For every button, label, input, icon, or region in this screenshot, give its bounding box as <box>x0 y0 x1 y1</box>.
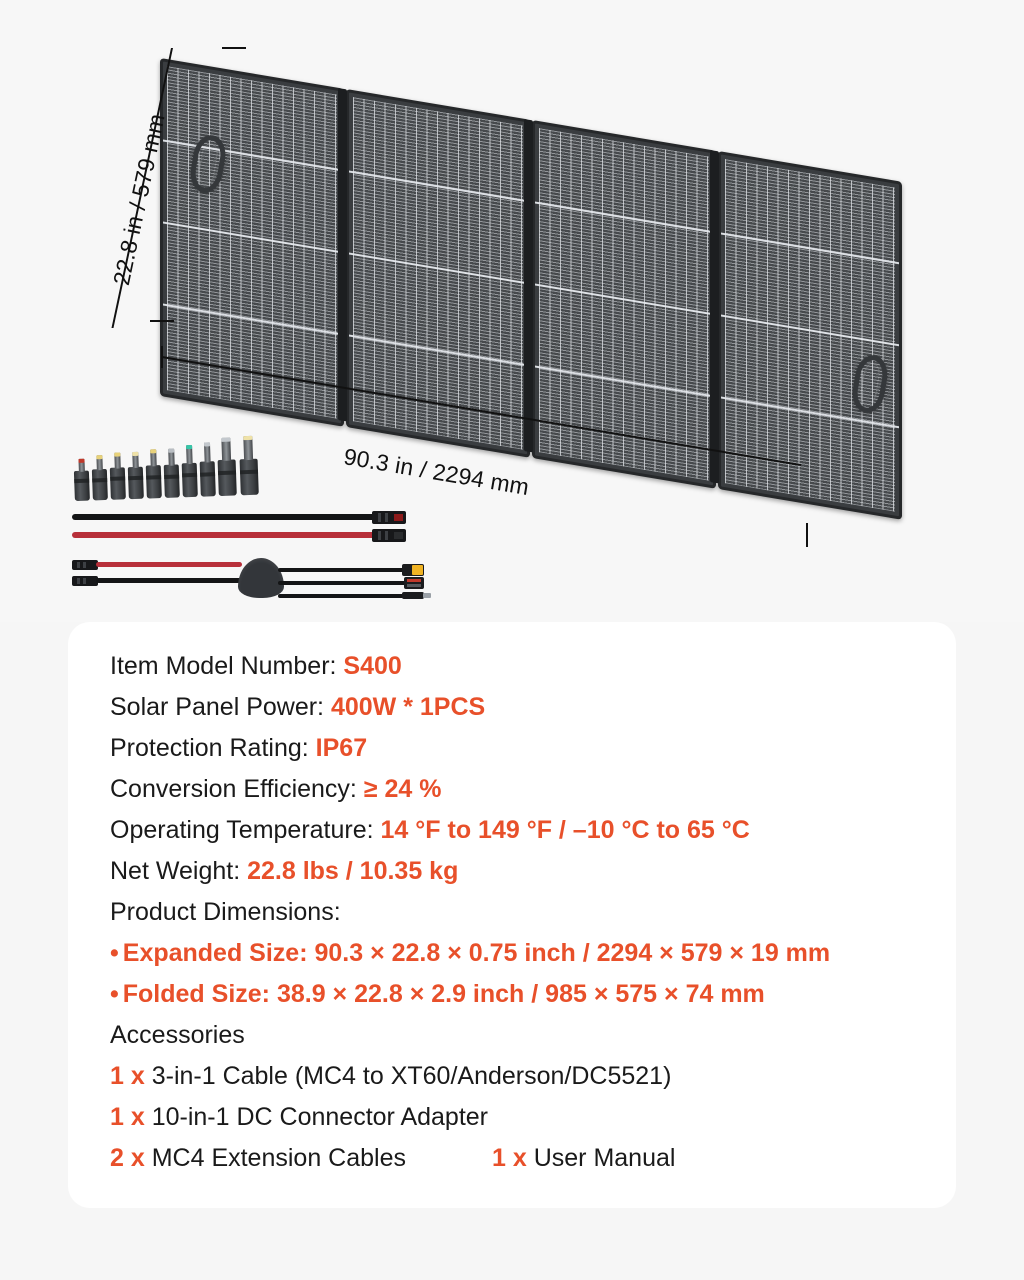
accessory-qty: 1 x <box>110 1103 145 1131</box>
accessory-name: 10-in-1 DC Connector Adapter <box>145 1103 488 1131</box>
spec-value: S400 <box>343 652 401 680</box>
accessory-qty: 1 x <box>110 1062 145 1090</box>
accessory-name: MC4 Extension Cables <box>145 1144 406 1172</box>
solar-panel-section-4 <box>718 151 902 520</box>
mc4-extension-cables <box>72 512 422 544</box>
spec-label: Item Model Number: <box>110 652 343 680</box>
dc-adapter-tip-set <box>73 445 253 501</box>
accessory-row-dc-adapter: 1 x 10-in-1 DC Connector Adapter <box>110 1097 926 1138</box>
spec-value: IP67 <box>316 734 367 762</box>
width-dimension-cap-left <box>161 346 163 368</box>
specification-list: Item Model Number: S400 Solar Panel Powe… <box>110 646 926 1179</box>
dc-adapter-tip <box>128 467 144 500</box>
accessory-qty-secondary: 1 x <box>492 1144 527 1172</box>
spec-label: Operating Temperature: <box>110 816 381 844</box>
spec-label: Net Weight: <box>110 857 247 885</box>
spec-value: 400W * 1PCS <box>331 693 485 721</box>
three-in-one-cable <box>72 556 432 606</box>
spec-label: Solar Panel Power: <box>110 693 331 721</box>
dc-adapter-tip <box>92 469 108 501</box>
dimension-bullet-folded: •Folded Size: 38.9 × 22.8 × 2.9 inch / 9… <box>110 974 926 1015</box>
spec-row-power: Solar Panel Power: 400W * 1PCS <box>110 687 926 728</box>
product-hero-image: 22.8 in / 579 mm 90.3 in / 2294 mm <box>0 0 1024 622</box>
mc4-cable-red <box>72 532 378 538</box>
specification-card: Item Model Number: S400 Solar Panel Powe… <box>68 622 956 1208</box>
spec-row-net-weight: Net Weight: 22.8 lbs / 10.35 kg <box>110 851 926 892</box>
accessory-name: 3-in-1 Cable (MC4 to XT60/Anderson/DC552… <box>145 1062 672 1090</box>
accessory-row-mc4-and-manual: 2 x MC4 Extension Cables1 x User Manual <box>110 1138 926 1179</box>
mc4-connector <box>372 511 406 524</box>
splitter-input-wire-black <box>96 578 242 583</box>
bullet-glyph: • <box>110 933 119 974</box>
dc-adapter-tip <box>218 459 237 496</box>
splitter-output-wire-anderson <box>278 581 408 585</box>
width-dimension-cap-right <box>806 523 808 547</box>
dc-adapter-tip <box>110 467 126 500</box>
panel-fold-seam <box>338 88 347 422</box>
dc5521-connector <box>402 592 424 599</box>
spec-label: Conversion Efficiency: <box>110 775 364 803</box>
solar-cell-grid <box>167 66 337 418</box>
anderson-connector <box>404 577 424 589</box>
solar-cell-grid <box>353 97 523 449</box>
height-dimension-cap-bottom <box>150 320 174 322</box>
panel-fold-seam <box>524 119 533 453</box>
bullet-glyph: • <box>110 974 119 1015</box>
spec-row-model: Item Model Number: S400 <box>110 646 926 687</box>
panel-fold-seam <box>710 150 719 484</box>
spec-row-protection-rating: Protection Rating: IP67 <box>110 728 926 769</box>
accessories-heading: Accessories <box>110 1015 926 1056</box>
solar-cell-grid <box>539 128 709 480</box>
dimension-bullet-expanded: •Expanded Size: 90.3 × 22.8 × 0.75 inch … <box>110 933 926 974</box>
splitter-output-wire-dc5521 <box>278 594 406 598</box>
accessory-row-3-in-1-cable: 1 x 3-in-1 Cable (MC4 to XT60/Anderson/D… <box>110 1056 926 1097</box>
cable-splitter-body <box>238 558 284 598</box>
spec-value: 14 °F to 149 °F / –10 °C to 65 °C <box>381 816 750 844</box>
mc4-cable-black <box>72 514 378 520</box>
splitter-input-wire-red <box>96 562 242 567</box>
xt60-connector <box>402 564 424 576</box>
spec-row-product-dimensions: Product Dimensions: <box>110 892 926 933</box>
accessories-illustration <box>70 446 440 606</box>
dc-adapter-tip <box>182 463 198 498</box>
solar-cell-grid <box>725 159 895 511</box>
dc-adapter-tip <box>164 464 180 498</box>
spec-label: Product Dimensions: <box>110 898 341 926</box>
dc-adapter-tip <box>240 459 259 496</box>
spec-value: 22.8 lbs / 10.35 kg <box>247 857 458 885</box>
spec-value: ≥ 24 % <box>364 775 442 803</box>
dimension-text: Expanded Size: 90.3 × 22.8 × 0.75 inch /… <box>123 939 830 967</box>
dimension-text: Folded Size: 38.9 × 22.8 × 2.9 inch / 98… <box>123 980 765 1008</box>
accessory-name-secondary: User Manual <box>527 1144 676 1172</box>
spec-row-conversion-efficiency: Conversion Efficiency: ≥ 24 % <box>110 769 926 810</box>
dc-adapter-tip <box>146 465 162 499</box>
height-dimension-cap-top <box>222 47 246 49</box>
dc-adapter-tip <box>74 471 90 502</box>
spec-row-operating-temperature: Operating Temperature: 14 °F to 149 °F /… <box>110 810 926 851</box>
mc4-connector <box>372 529 406 542</box>
splitter-output-wire-xt60 <box>278 568 406 572</box>
accessory-qty: 2 x <box>110 1144 145 1172</box>
dc-adapter-tip <box>200 461 216 497</box>
mc4-connector <box>72 560 98 570</box>
spec-label: Protection Rating: <box>110 734 316 762</box>
mc4-connector <box>72 576 98 586</box>
